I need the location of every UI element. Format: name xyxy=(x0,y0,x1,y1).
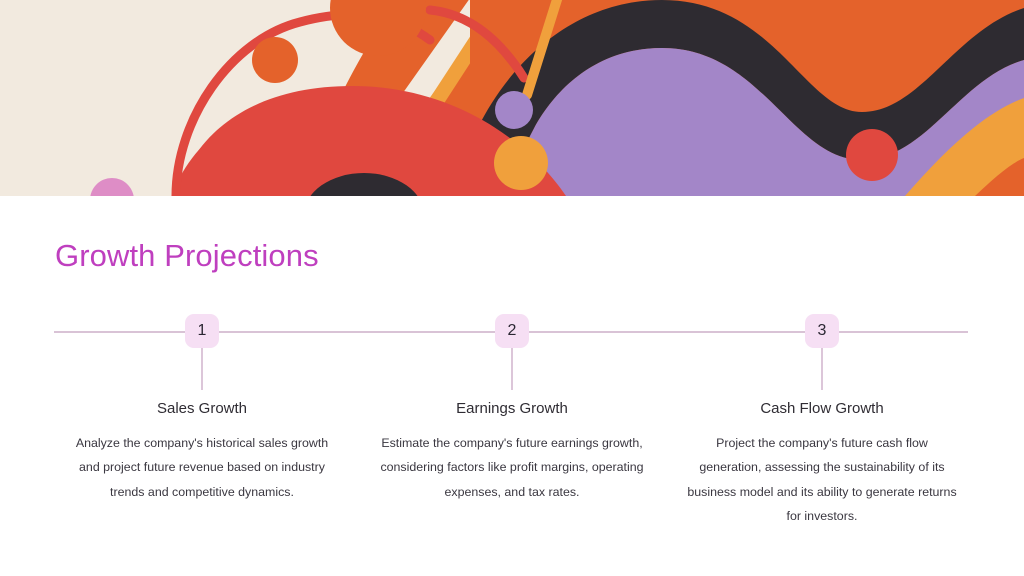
abstract-wave-graphic xyxy=(0,0,1024,196)
red-circle xyxy=(846,129,898,181)
slide-body: Growth Projections 1 2 3 Sales Growth An xyxy=(0,196,1024,576)
timeline-column-1: Sales Growth Analyze the company's histo… xyxy=(52,400,352,504)
column-title-2: Earnings Growth xyxy=(362,400,662,418)
column-description-2: Estimate the company's future earnings g… xyxy=(362,431,662,504)
timeline-marker-1[interactable]: 1 xyxy=(185,314,219,348)
timeline-column-2: Earnings Growth Estimate the company's f… xyxy=(362,400,662,504)
timeline-marker-2[interactable]: 2 xyxy=(495,314,529,348)
timeline-marker-3[interactable]: 3 xyxy=(805,314,839,348)
header-banner-artwork xyxy=(0,0,1024,196)
column-description-1: Analyze the company's historical sales g… xyxy=(52,431,352,504)
timeline: 1 2 3 Sales Growth Analyze the company's… xyxy=(0,196,1024,576)
column-title-1: Sales Growth xyxy=(52,400,352,418)
timeline-column-3: Cash Flow Growth Project the company's f… xyxy=(672,400,972,528)
amber-circle xyxy=(494,136,548,190)
timeline-stem-3 xyxy=(821,348,823,390)
timeline-stem-1 xyxy=(201,348,203,390)
slide: Growth Projections 1 2 3 Sales Growth An xyxy=(0,0,1024,576)
purple-circle xyxy=(495,91,533,129)
orange-circle-small xyxy=(252,37,298,83)
column-title-3: Cash Flow Growth xyxy=(672,400,972,418)
column-description-3: Project the company's future cash flow g… xyxy=(672,431,972,528)
timeline-stem-2 xyxy=(511,348,513,390)
